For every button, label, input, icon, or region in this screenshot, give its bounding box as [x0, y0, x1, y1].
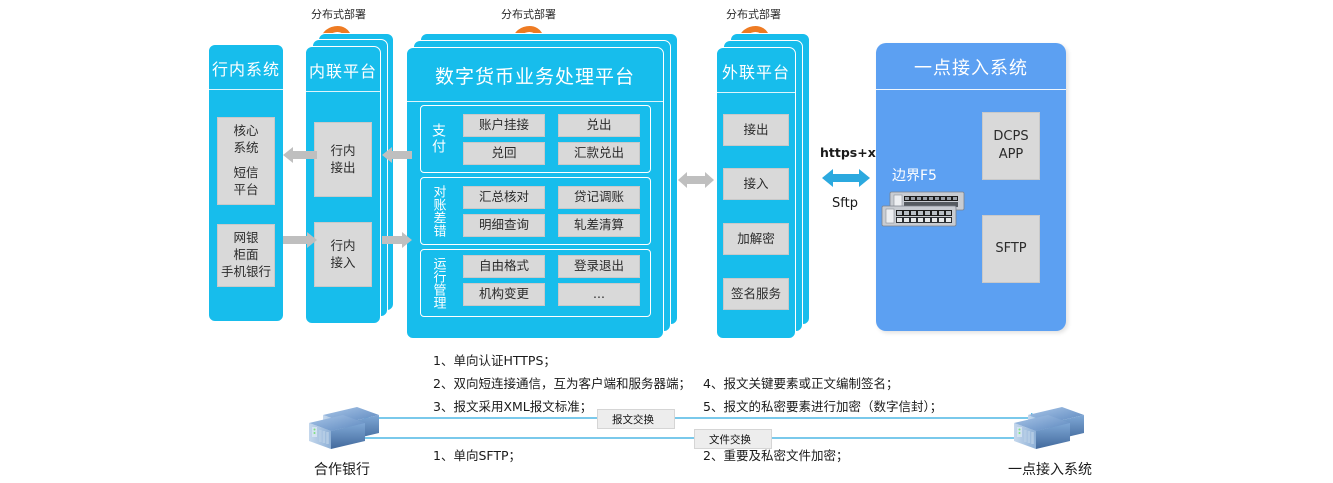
chip-core-system[interactable]: 核心 系统 短信 平台: [217, 117, 275, 205]
chip-credit-adjust[interactable]: 贷记调账: [558, 186, 640, 209]
chip-exchange-out[interactable]: 兑出: [558, 114, 640, 137]
panel-dcep-platform-title: 数字货币业务处理平台: [407, 48, 663, 102]
chip-summary-check[interactable]: 汇总核对: [463, 186, 545, 209]
chip-extranet-in[interactable]: 接入: [723, 168, 789, 200]
note-right-bottom-2: 2、重要及私密文件加密；: [703, 446, 848, 466]
chip-dcps-app[interactable]: DCPS APP: [982, 112, 1040, 180]
chip-sftp[interactable]: SFTP: [982, 215, 1040, 283]
chip-intranet-inbound[interactable]: 行内 接入: [314, 222, 372, 287]
chip-signature-service[interactable]: 签名服务: [723, 278, 789, 310]
protocol-label-sftp: Sftp: [832, 196, 858, 211]
chip-detail-query[interactable]: 明细查询: [463, 214, 545, 237]
chip-org-change[interactable]: 机构变更: [463, 283, 545, 306]
chip-encrypt-decrypt[interactable]: 加解密: [723, 223, 789, 255]
chip-intranet-outbound[interactable]: 行内 接出: [314, 122, 372, 197]
chip-netting-settle[interactable]: 轧差清算: [558, 214, 640, 237]
server-icon-partner-bank: [303, 403, 381, 451]
arrow-right-intranet-dcep: [382, 232, 412, 248]
chip-login-logout[interactable]: 登录退出: [558, 255, 640, 278]
chip-free-format[interactable]: 自由格式: [463, 255, 545, 278]
chip-account-link[interactable]: 账户挂接: [463, 114, 545, 137]
note-left-top-2: 2、双向短连接通信，互为客户端和服务器端；: [433, 374, 691, 394]
panel-access-system: 一点接入系统: [876, 43, 1066, 331]
arrow-bidir-dcep-extranet: [678, 171, 714, 189]
chip-line: 手机银行: [221, 264, 271, 281]
note-right-top-4: 4、报文关键要素或正文编制签名；: [703, 374, 898, 394]
arrow-left-bank-out: [283, 147, 317, 163]
arrow-right-bank-in: [283, 232, 317, 248]
chip-line: 柜面: [233, 247, 258, 264]
panel-access-system-title: 一点接入系统: [876, 43, 1066, 90]
chip-line: 系统: [233, 140, 258, 157]
chip-line: 短信: [233, 165, 258, 182]
chip-line: 网银: [233, 230, 258, 247]
chip-line: DCPS: [993, 128, 1028, 146]
group-operations-label: 运行管理: [428, 252, 448, 314]
chip-line: 行内: [330, 143, 355, 160]
chip-line: 接入: [330, 255, 355, 272]
chip-more[interactable]: ...: [558, 283, 640, 306]
note-left-bottom-1: 1、单向SFTP；: [433, 446, 521, 466]
flow-line-message-exchange: [345, 412, 1045, 424]
chip-ebank-counter-mobile[interactable]: 网银 柜面 手机银行: [217, 224, 275, 287]
f5-label: 边界F5: [892, 165, 937, 185]
server-icon-access-system: [1008, 403, 1086, 451]
chip-line: APP: [999, 146, 1024, 164]
arrow-bidir-protocol: [822, 168, 870, 188]
label-box-file-exchange: 文件交换: [694, 429, 772, 449]
note-left-top-1: 1、单向认证HTTPS；: [433, 351, 556, 371]
f5-device-icon: [882, 192, 966, 232]
label-box-message-exchange: 报文交换: [597, 409, 675, 429]
chip-remittance-out[interactable]: 汇款兑出: [558, 142, 640, 165]
panel-intranet-platform-title: 内联平台: [306, 47, 380, 92]
diagram-canvas: 分布式部署 分布式部署 分布式部署 行内系统 核心 系统 短信 平台 网银 柜面…: [0, 0, 1333, 483]
group-payment-label: 支付: [428, 112, 448, 166]
panel-extranet-platform-title: 外联平台: [717, 48, 795, 93]
chip-line: 核心: [233, 123, 258, 140]
chip-exchange-back[interactable]: 兑回: [463, 142, 545, 165]
chip-line: 平台: [233, 182, 258, 199]
server-label-access-system: 一点接入系统: [994, 459, 1106, 479]
group-reconciliation-label: 对账差错: [428, 180, 448, 242]
chip-extranet-out[interactable]: 接出: [723, 114, 789, 146]
chip-line: 行内: [330, 238, 355, 255]
server-label-partner-bank: 合作银行: [300, 459, 384, 479]
panel-bank-system-title: 行内系统: [209, 45, 283, 90]
arrow-left-intranet-dcep: [382, 147, 412, 163]
chip-line: 接出: [330, 160, 355, 177]
